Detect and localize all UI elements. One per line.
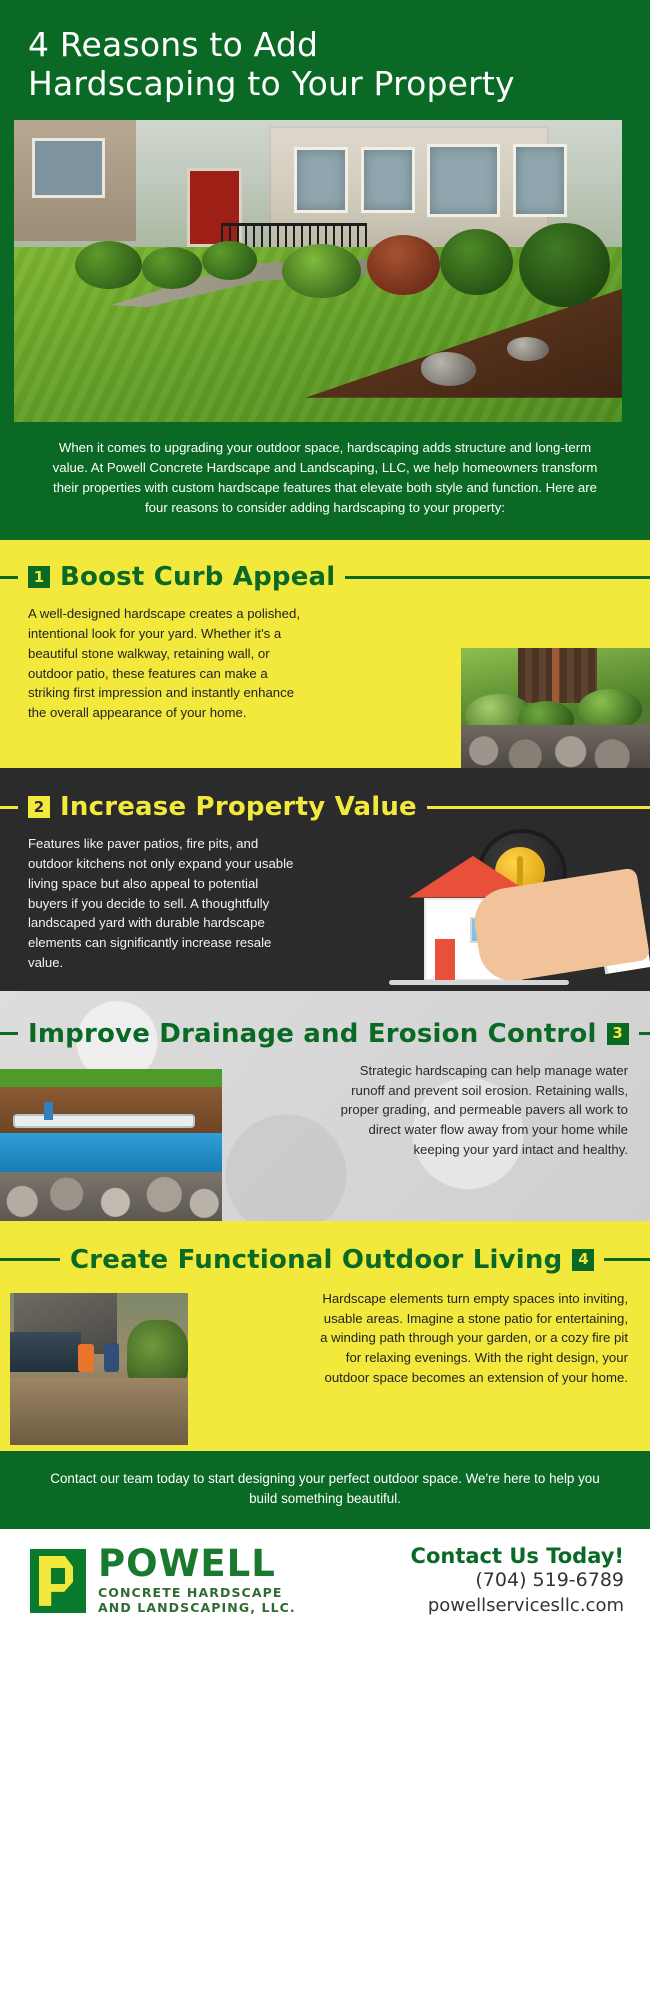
section-1-title: Boost Curb Appeal — [60, 564, 335, 590]
drainage-pipe — [13, 1114, 195, 1128]
shrub — [282, 244, 361, 298]
left-window — [32, 138, 105, 198]
logo-p-counter — [51, 1568, 65, 1584]
section-2-number-badge: 2 — [28, 796, 50, 818]
website-url[interactable]: powellservicesllc.com — [411, 1594, 624, 1618]
hero-landscaping-photo — [14, 120, 622, 422]
powell-logo-icon — [30, 1549, 86, 1613]
section-1-body: A well-designed hardscape creates a poli… — [0, 604, 300, 723]
cta-text: Contact our team today to start designin… — [46, 1469, 604, 1509]
brand-name: POWELL — [98, 1546, 296, 1581]
heading-rule-right — [639, 1032, 650, 1035]
hero-image-wrapper — [0, 120, 650, 422]
section-improve-drainage: Improve Drainage and Erosion Control 3 S… — [0, 991, 650, 1221]
intro-text: When it comes to upgrading your outdoor … — [52, 438, 598, 518]
shrub — [142, 247, 203, 289]
shrub — [202, 241, 257, 280]
section-2-illustration — [354, 831, 644, 991]
section-3-number-badge: 3 — [607, 1023, 629, 1045]
section-3-illustration — [0, 1069, 222, 1221]
heading-rule-left — [0, 1258, 60, 1261]
section-4-number-badge: 4 — [572, 1249, 594, 1271]
ground-line — [389, 980, 569, 985]
section-4-image — [10, 1293, 188, 1445]
heading-rule-right — [345, 576, 650, 579]
window-1 — [294, 147, 349, 213]
heading-rule-left — [0, 806, 18, 809]
shrub — [75, 241, 142, 289]
heading-rule-left — [0, 576, 18, 579]
section-1-image — [461, 648, 650, 768]
worker — [78, 1344, 94, 1371]
section-2-heading-row: 2 Increase Property Value — [0, 794, 650, 820]
work-truck — [10, 1332, 81, 1372]
pipe-valve — [44, 1102, 53, 1120]
section-4-title: Create Functional Outdoor Living — [70, 1247, 562, 1273]
section-increase-property-value: 2 Increase Property Value Features like … — [0, 768, 650, 991]
heading-rule-right — [604, 1258, 650, 1261]
worker — [104, 1343, 118, 1372]
window-2 — [361, 147, 416, 213]
excavated-ground — [10, 1378, 188, 1445]
boulder — [421, 352, 476, 385]
water-layer — [0, 1133, 222, 1173]
section-4-heading-row: Create Functional Outdoor Living 4 — [0, 1247, 650, 1273]
page-title: 4 Reasons to Add Hardscaping to Your Pro… — [28, 26, 622, 104]
window-4 — [513, 144, 568, 216]
section-boost-curb-appeal: 1 Boost Curb Appeal A well-designed hard… — [0, 540, 650, 768]
contact-block: Contact Us Today! (704) 519-6789 powells… — [411, 1544, 624, 1618]
phone-number[interactable]: (704) 519-6789 — [411, 1568, 624, 1594]
cta-block: Contact our team today to start designin… — [0, 1451, 650, 1529]
section-4-body: Hardscape elements turn empty spaces int… — [318, 1289, 628, 1388]
footer: POWELL CONCRETE HARDSCAPE AND LANDSCAPIN… — [0, 1529, 650, 1633]
section-1-heading-row: 1 Boost Curb Appeal — [0, 564, 650, 590]
heading-rule-left — [0, 1032, 18, 1035]
house-door — [435, 939, 455, 981]
brand-lockup: POWELL CONCRETE HARDSCAPE AND LANDSCAPIN… — [30, 1546, 296, 1616]
section-2-title: Increase Property Value — [60, 794, 417, 820]
section-3-title: Improve Drainage and Erosion Control — [28, 1021, 597, 1047]
window-3 — [427, 144, 500, 216]
brand-tagline: CONCRETE HARDSCAPE AND LANDSCAPING, LLC. — [98, 1585, 296, 1616]
intro-block: When it comes to upgrading your outdoor … — [0, 422, 650, 540]
shrub — [367, 235, 440, 295]
section-create-functional-outdoor-living: Create Functional Outdoor Living 4 Hards… — [0, 1221, 650, 1451]
contact-heading: Contact Us Today! — [411, 1544, 624, 1568]
brand-text: POWELL CONCRETE HARDSCAPE AND LANDSCAPIN… — [98, 1546, 296, 1616]
infographic-page: 4 Reasons to Add Hardscaping to Your Pro… — [0, 0, 650, 2000]
bush — [578, 689, 642, 730]
header-banner: 4 Reasons to Add Hardscaping to Your Pro… — [0, 0, 650, 120]
heading-rule-right — [427, 806, 650, 809]
shrub — [440, 229, 513, 295]
stone-retaining-wall — [461, 725, 650, 768]
section-2-body: Features like paver patios, fire pits, a… — [0, 834, 300, 973]
section-3-heading-row: Improve Drainage and Erosion Control 3 — [0, 1021, 650, 1047]
section-1-number-badge: 1 — [28, 566, 50, 588]
grass-layer — [0, 1069, 222, 1087]
section-3-body: Strategic hardscaping can help manage wa… — [328, 1061, 628, 1160]
shrub — [519, 223, 610, 308]
gravel-layer — [0, 1172, 222, 1221]
